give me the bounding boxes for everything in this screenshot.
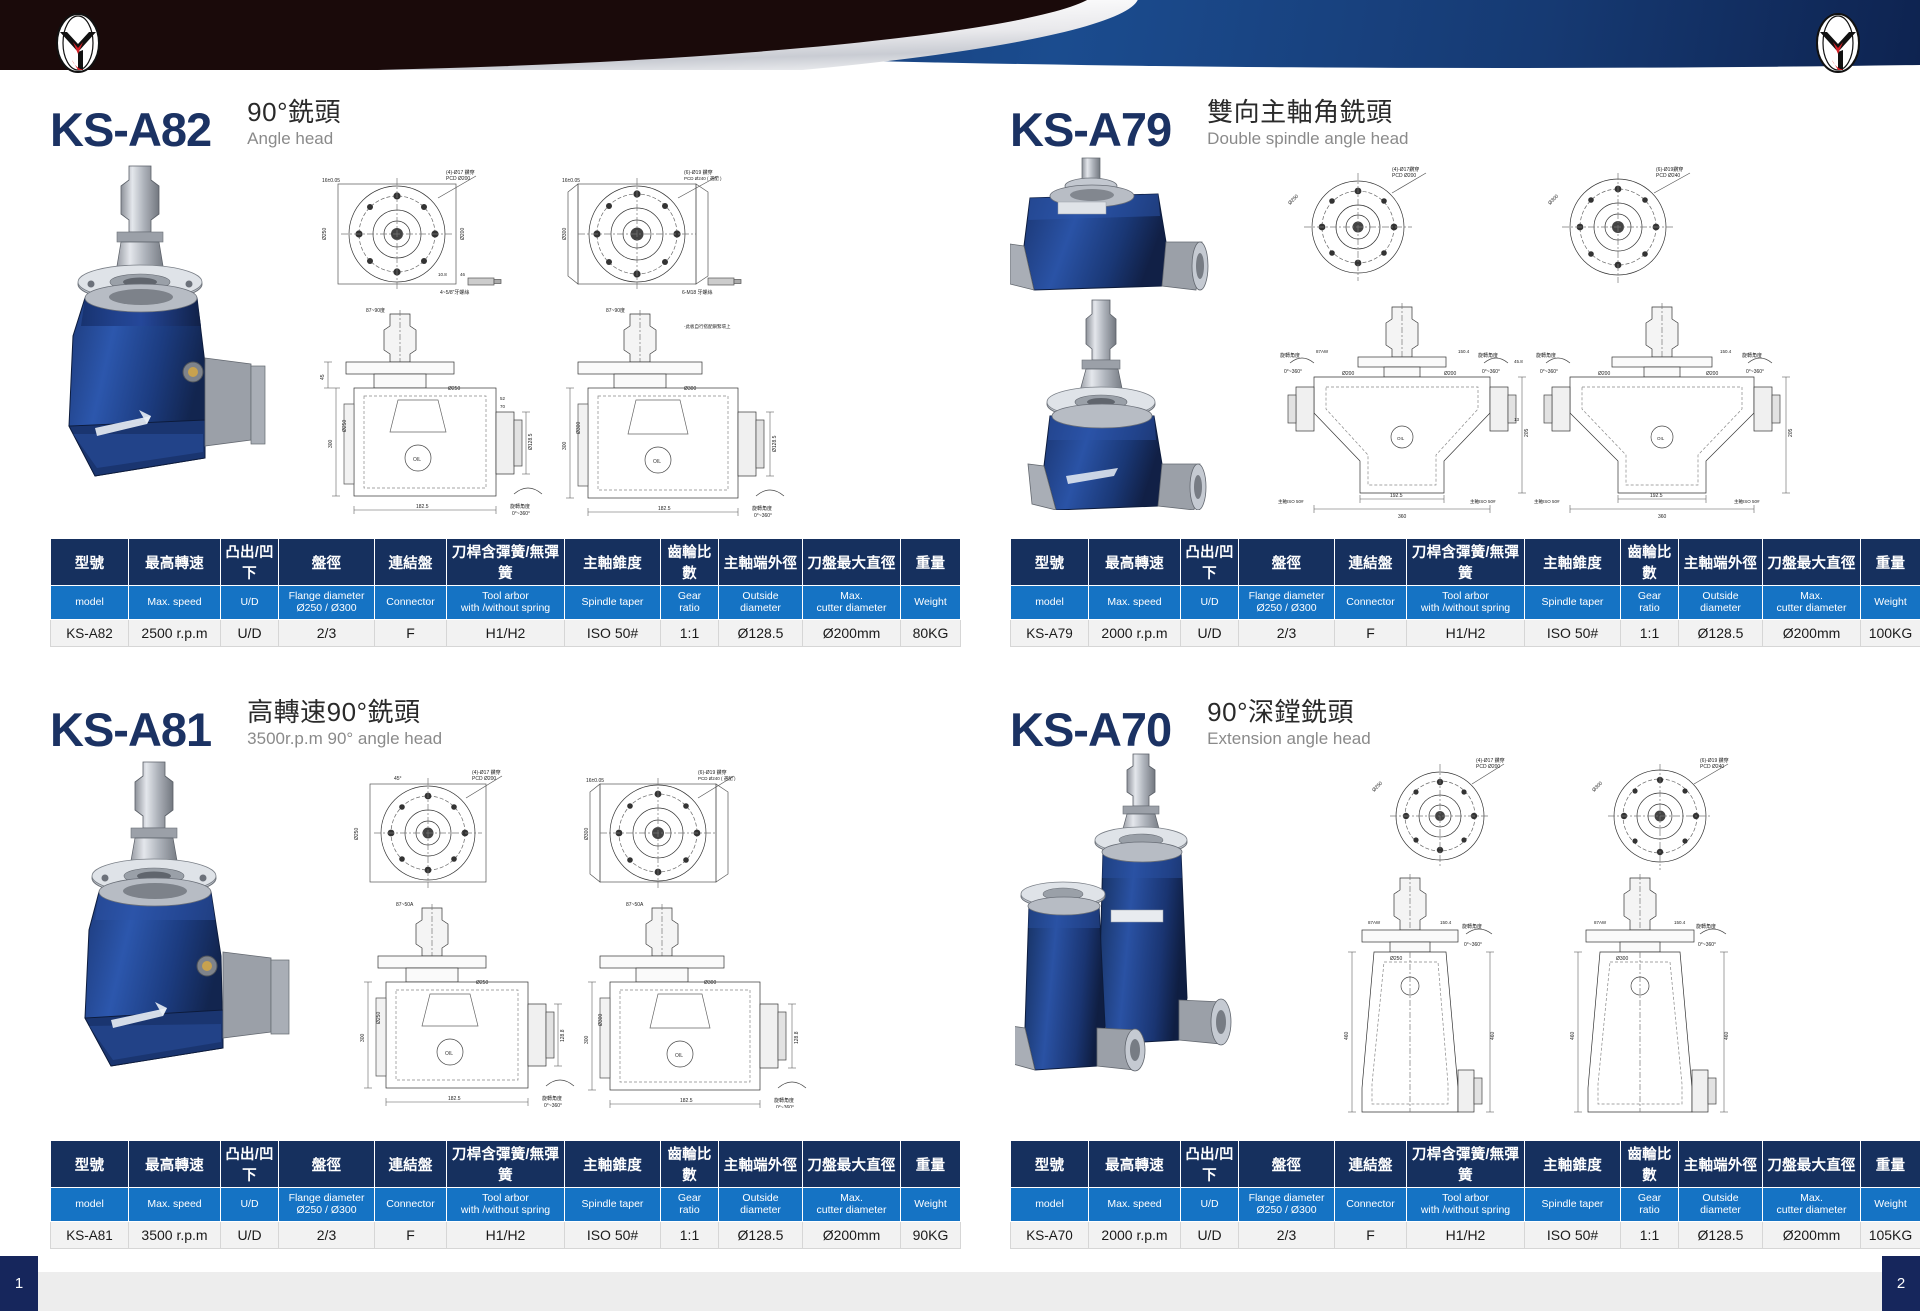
svg-text:360: 360 <box>1658 514 1667 520</box>
th-gear-zh: 齒輪比數 <box>1621 1141 1679 1188</box>
svg-text:旋轉角度: 旋轉角度 <box>1696 923 1716 930</box>
th-model-en: model <box>1011 586 1089 620</box>
svg-text:Ø250: Ø250 <box>322 228 328 240</box>
table-row: KS-A79 2000 r.p.m U/D 2/3 F H1/H2 ISO 50… <box>1011 620 1920 647</box>
th-weight-zh: 重量 <box>901 539 961 586</box>
th-cutter-en: Max.cutter diameter <box>803 586 901 620</box>
svg-text:205: 205 <box>1788 428 1794 437</box>
svg-text:300: 300 <box>584 1035 590 1044</box>
svg-text:Ø250: Ø250 <box>476 980 488 986</box>
svg-text:旋轉角度: 旋轉角度 <box>542 1095 562 1102</box>
svg-text:(6)-Ø19鑽穿: (6)-Ø19鑽穿 <box>1656 166 1683 173</box>
cell-model: KS-A81 <box>51 1222 129 1249</box>
th-ud-zh: 凸出/凹下 <box>221 539 279 586</box>
cell-ud: U/D <box>1181 1222 1239 1249</box>
svg-text:0°~360°: 0°~360° <box>754 513 772 518</box>
svg-text:300: 300 <box>562 441 568 450</box>
table-header-zh: 型號 最高轉速 凸出/凹下 盤徑 連結盤 刀桿含彈簧/無彈簧 主軸錐度 齒輪比數… <box>1011 1141 1920 1188</box>
cell-gear: 1:1 <box>1621 1222 1679 1249</box>
svg-text:150.4: 150.4 <box>1674 920 1686 925</box>
svg-text:Ø128.5: Ø128.5 <box>528 433 534 450</box>
th-conn-en: Connector <box>1335 1188 1407 1222</box>
th-model-en: model <box>51 1188 129 1222</box>
th-outside-en: Outsidediameter <box>719 586 803 620</box>
company-logo-left <box>52 12 104 74</box>
cell-conn: F <box>375 1222 447 1249</box>
product-title-a79: KS-A79 雙向主軸角銑頭 Double spindle angle head <box>1010 98 1409 153</box>
svg-text:46: 46 <box>460 272 466 277</box>
th-flange-zh: 盤徑 <box>1239 539 1335 586</box>
svg-text:PCD Ø200: PCD Ø200 <box>472 776 496 782</box>
svg-text:Ø250: Ø250 <box>448 386 460 392</box>
th-arbor-en: Tool arborwith /without spring <box>1407 1188 1525 1222</box>
th-outside-en: Outsidediameter <box>1679 586 1763 620</box>
product-photo-a81 <box>75 756 325 1086</box>
spec-table-a82: 型號 最高轉速 凸出/凹下 盤徑 連結盤 刀桿含彈簧/無彈簧 主軸錐度 齒輪比數… <box>50 538 961 647</box>
th-conn-zh: 連結盤 <box>1335 539 1407 586</box>
svg-text:0°~360°: 0°~360° <box>512 511 530 517</box>
svg-text:Ø250: Ø250 <box>354 828 360 840</box>
page-number-right: 2 <box>1897 1275 1905 1292</box>
svg-text:45.8: 45.8 <box>1514 359 1523 364</box>
svg-text:旋轉角度: 旋轉角度 <box>1280 352 1300 359</box>
th-weight-en: Weight <box>901 1188 961 1222</box>
svg-text:Ø300: Ø300 <box>562 228 568 240</box>
cell-outside: Ø128.5 <box>719 620 803 647</box>
svg-text:(6)-Ø19 鑽穿: (6)-Ø19 鑽穿 <box>698 769 727 776</box>
svg-text:PCD Ø240: PCD Ø240 <box>1656 173 1680 179</box>
svg-text:87AW: 87AW <box>1594 920 1607 925</box>
svg-text:460: 460 <box>1490 1031 1496 1040</box>
svg-text:192.5: 192.5 <box>1650 493 1663 499</box>
product-photo-a82 <box>55 158 305 498</box>
th-ud-zh: 凸出/凹下 <box>1181 539 1239 586</box>
cell-outside: Ø128.5 <box>1679 620 1763 647</box>
model-code: KS-A70 <box>1010 707 1171 752</box>
table-row: KS-A81 3500 r.p.m U/D 2/3 F H1/H2 ISO 50… <box>51 1222 961 1249</box>
th-flange-en: Flange diameterØ250 / Ø300 <box>1239 586 1335 620</box>
svg-text:Ø300: Ø300 <box>684 386 696 392</box>
th-ud-en: U/D <box>1181 1188 1239 1222</box>
th-gear-en: Gearratio <box>661 1188 719 1222</box>
table-header-en: model Max. speed U/D Flange diameterØ250… <box>1011 1188 1920 1222</box>
title-zh: 90°銑頭 <box>247 98 341 127</box>
th-conn-zh: 連結盤 <box>375 1141 447 1188</box>
svg-text:PCD Ø200: PCD Ø200 <box>446 176 470 182</box>
page-header <box>0 0 1920 78</box>
svg-text:Ø128.5: Ø128.5 <box>772 435 778 452</box>
th-arbor-zh: 刀桿含彈簧/無彈簧 <box>447 539 565 586</box>
technical-drawings-a82: (4)-Ø17 鑽穿 PCD Ø200 16±0.05 Ø250 Ø200 4~… <box>300 158 930 518</box>
cell-ud: U/D <box>1181 620 1239 647</box>
th-weight-en: Weight <box>1861 1188 1920 1222</box>
th-model-en: model <box>1011 1188 1089 1222</box>
svg-text:PCD Ø200: PCD Ø200 <box>1392 173 1416 179</box>
model-code: KS-A79 <box>1010 107 1171 152</box>
svg-text:Ø250: Ø250 <box>1287 193 1300 206</box>
svg-text:52: 52 <box>500 396 506 401</box>
cell-weight: 90KG <box>901 1222 961 1249</box>
table-row: KS-A82 2500 r.p.m U/D 2/3 F H1/H2 ISO 50… <box>51 620 961 647</box>
th-cutter-zh: 刀盤最大直徑 <box>1763 1141 1861 1188</box>
cell-weight: 80KG <box>901 620 961 647</box>
cell-flange: 2/3 <box>279 620 375 647</box>
th-conn-zh: 連結盤 <box>375 539 447 586</box>
spec-table-a79: 型號 最高轉速 凸出/凹下 盤徑 連結盤 刀桿含彈簧/無彈簧 主軸錐度 齒輪比數… <box>1010 538 1920 647</box>
cell-gear: 1:1 <box>661 620 719 647</box>
th-cutter-en: Max.cutter diameter <box>1763 1188 1861 1222</box>
th-weight-zh: 重量 <box>1861 539 1920 586</box>
th-model-zh: 型號 <box>51 1141 129 1188</box>
th-taper-zh: 主軸錐度 <box>1525 539 1621 586</box>
svg-text:PCD Ø240 ( 選配 ): PCD Ø240 ( 選配 ) <box>698 775 736 782</box>
svg-text:182.5: 182.5 <box>448 1096 461 1102</box>
th-gear-en: Gearratio <box>661 586 719 620</box>
svg-text:(6)-Ø19 鑽穿: (6)-Ø19 鑽穿 <box>1700 757 1729 764</box>
title-en: Angle head <box>247 129 341 149</box>
svg-text:45: 45 <box>320 374 326 380</box>
table-header-zh: 型號 最高轉速 凸出/凹下 盤徑 連結盤 刀桿含彈簧/無彈簧 主軸錐度 齒輪比數… <box>1011 539 1920 586</box>
model-code: KS-A82 <box>50 107 211 152</box>
th-weight-en: Weight <box>1861 586 1920 620</box>
th-outside-zh: 主軸端外徑 <box>1679 539 1763 586</box>
svg-text:OIL: OIL <box>445 1051 453 1057</box>
technical-drawings-a70: (4)-Ø17 鑽穿 PCD Ø200 Ø250 <box>1260 748 1910 1118</box>
th-conn-zh: 連結盤 <box>1335 1141 1407 1188</box>
cell-weight: 100KG <box>1861 620 1920 647</box>
svg-text:192.5: 192.5 <box>1390 493 1403 499</box>
th-taper-en: Spindle taper <box>1525 1188 1621 1222</box>
th-taper-en: Spindle taper <box>565 1188 661 1222</box>
svg-text:Ø250: Ø250 <box>342 420 348 432</box>
table-header-en: model Max. speed U/D Flange diameterØ250… <box>51 586 961 620</box>
th-conn-en: Connector <box>1335 586 1407 620</box>
svg-text:旋轉角度: 旋轉角度 <box>1462 923 1482 930</box>
th-arbor-zh: 刀桿含彈簧/無彈簧 <box>447 1141 565 1188</box>
svg-text:0°~360°: 0°~360° <box>1540 369 1558 375</box>
svg-text:360: 360 <box>1398 514 1407 520</box>
th-model-zh: 型號 <box>51 539 129 586</box>
th-taper-zh: 主軸錐度 <box>565 1141 661 1188</box>
th-outside-zh: 主軸端外徑 <box>1679 1141 1763 1188</box>
th-gear-zh: 齒輪比數 <box>1621 539 1679 586</box>
svg-text:Ø200: Ø200 <box>1444 371 1456 377</box>
svg-text:Ø250: Ø250 <box>1390 956 1402 962</box>
cell-flange: 2/3 <box>279 1222 375 1249</box>
product-block-a82: KS-A82 90°銑頭 Angle head <box>0 78 960 678</box>
svg-text:旋轉角度: 旋轉角度 <box>1742 352 1762 359</box>
svg-text:87~90度: 87~90度 <box>366 307 385 314</box>
technical-drawings-a81: (4)-Ø17 鑽穿 PCD Ø200 45° Ø250 <box>330 758 930 1108</box>
cell-conn: F <box>1335 620 1407 647</box>
table-header-en: model Max. speed U/D Flange diameterØ250… <box>1011 586 1920 620</box>
cell-gear: 1:1 <box>1621 620 1679 647</box>
th-taper-zh: 主軸錐度 <box>1525 1141 1621 1188</box>
svg-text:主軸ISO 50#: 主軸ISO 50# <box>1278 498 1304 505</box>
svg-text:460: 460 <box>1344 1031 1350 1040</box>
th-model-zh: 型號 <box>1011 1141 1089 1188</box>
cell-cutter: Ø200mm <box>1763 620 1861 647</box>
svg-text:182.5: 182.5 <box>680 1098 693 1104</box>
company-logo-right <box>1812 12 1864 74</box>
svg-text:主軸ISO 50#: 主軸ISO 50# <box>1470 498 1496 505</box>
th-ud-en: U/D <box>221 586 279 620</box>
cell-gear: 1:1 <box>661 1222 719 1249</box>
th-speed-zh: 最高轉速 <box>1089 1141 1181 1188</box>
th-gear-en: Gearratio <box>1621 586 1679 620</box>
cell-cutter: Ø200mm <box>803 1222 901 1249</box>
th-arbor-zh: 刀桿含彈簧/無彈簧 <box>1407 539 1525 586</box>
svg-text:0°~360°: 0°~360° <box>1698 942 1716 948</box>
svg-text:45°: 45° <box>394 776 402 782</box>
svg-text:旋轉角度: 旋轉角度 <box>1536 352 1556 359</box>
th-outside-en: Outsidediameter <box>1679 1188 1763 1222</box>
th-outside-zh: 主軸端外徑 <box>719 539 803 586</box>
svg-text:-此板自行搭配鎖緊環上: -此板自行搭配鎖緊環上 <box>684 323 731 330</box>
product-block-a79: KS-A79 雙向主軸角銑頭 Double spindle angle head <box>960 78 1920 678</box>
th-cutter-zh: 刀盤最大直徑 <box>1763 539 1861 586</box>
th-speed-en: Max. speed <box>1089 586 1181 620</box>
cell-taper: ISO 50# <box>1525 1222 1621 1249</box>
th-gear-zh: 齒輪比數 <box>661 1141 719 1188</box>
cell-flange: 2/3 <box>1239 620 1335 647</box>
svg-text:(4)-Ø17 鑽穿: (4)-Ø17 鑽穿 <box>1476 757 1505 764</box>
svg-text:150.4: 150.4 <box>1440 920 1452 925</box>
svg-text:87~50A: 87~50A <box>626 902 644 908</box>
svg-text:460: 460 <box>1724 1031 1730 1040</box>
th-arbor-en: Tool arborwith /without spring <box>1407 586 1525 620</box>
svg-text:460: 460 <box>1570 1031 1576 1040</box>
product-photo-a70 <box>1015 750 1265 1080</box>
th-arbor-en: Tool arborwith /without spring <box>447 1188 565 1222</box>
th-arbor-zh: 刀桿含彈簧/無彈簧 <box>1407 1141 1525 1188</box>
title-zh: 高轉速90°銑頭 <box>247 698 442 727</box>
svg-text:主軸ISO 50#: 主軸ISO 50# <box>1534 498 1560 505</box>
footer-bar <box>0 1272 1920 1311</box>
cell-speed: 3500 r.p.m <box>129 1222 221 1249</box>
cell-flange: 2/3 <box>1239 1222 1335 1249</box>
th-taper-en: Spindle taper <box>1525 586 1621 620</box>
th-outside-zh: 主軸端外徑 <box>719 1141 803 1188</box>
th-weight-zh: 重量 <box>901 1141 961 1188</box>
th-flange-en: Flange diameterØ250 / Ø300 <box>279 1188 375 1222</box>
svg-text:旋轉角度: 旋轉角度 <box>510 503 530 510</box>
cell-conn: F <box>1335 1222 1407 1249</box>
svg-text:PCD Ø240 ( 選配 ): PCD Ø240 ( 選配 ) <box>684 175 722 182</box>
cell-weight: 105KG <box>1861 1222 1920 1249</box>
svg-text:150.4: 150.4 <box>1458 349 1470 354</box>
page-number-right-block: 2 <box>1882 1256 1920 1311</box>
header-base <box>0 70 1920 78</box>
svg-text:16±0.05: 16±0.05 <box>586 778 604 784</box>
svg-text:Ø250: Ø250 <box>376 1012 382 1024</box>
product-block-a81: KS-A81 高轉速90°銑頭 3500r.p.m 90° angle head <box>0 678 960 1256</box>
product-photo-a79 <box>1010 150 1245 510</box>
th-taper-en: Spindle taper <box>565 586 661 620</box>
svg-text:Ø300: Ø300 <box>598 1014 604 1026</box>
svg-text:OIL: OIL <box>675 1053 683 1059</box>
catalog-page: KS-A82 90°銑頭 Angle head <box>0 0 1920 1311</box>
svg-text:旋轉角度: 旋轉角度 <box>752 505 772 512</box>
th-ud-zh: 凸出/凹下 <box>221 1141 279 1188</box>
cell-cutter: Ø200mm <box>1763 1222 1861 1249</box>
svg-text:4~5/8"牙螺絲: 4~5/8"牙螺絲 <box>440 289 469 296</box>
spec-table-a70: 型號 最高轉速 凸出/凹下 盤徑 連結盤 刀桿含彈簧/無彈簧 主軸錐度 齒輪比數… <box>1010 1140 1920 1249</box>
cell-arbor: H1/H2 <box>1407 1222 1525 1249</box>
svg-text:Ø300: Ø300 <box>576 422 582 434</box>
svg-text:Ø300: Ø300 <box>1591 780 1604 793</box>
svg-text:87AW: 87AW <box>1368 920 1381 925</box>
cell-arbor: H1/H2 <box>1407 620 1525 647</box>
cell-model: KS-A70 <box>1011 1222 1089 1249</box>
th-speed-en: Max. speed <box>129 1188 221 1222</box>
svg-text:128.8: 128.8 <box>794 1031 800 1044</box>
svg-text:Ø300: Ø300 <box>584 828 590 840</box>
svg-text:Ø200: Ø200 <box>1598 371 1610 377</box>
technical-drawings-a79: (4)-Ø17鑽穿 PCD Ø200 Ø250 <box>1250 153 1900 523</box>
svg-text:87~50A: 87~50A <box>396 902 414 908</box>
cell-ud: U/D <box>221 1222 279 1249</box>
th-flange-en: Flange diameterØ250 / Ø300 <box>1239 1188 1335 1222</box>
svg-text:旋轉角度: 旋轉角度 <box>1478 352 1498 359</box>
svg-text:(4)-Ø17 鑽穿: (4)-Ø17 鑽穿 <box>446 169 475 176</box>
svg-text:OIL: OIL <box>1657 436 1665 441</box>
cell-arbor: H1/H2 <box>447 620 565 647</box>
product-block-a70: KS-A70 90°深鏜銑頭 Extension angle head <box>960 678 1920 1256</box>
svg-text:128.8: 128.8 <box>560 1029 566 1042</box>
th-conn-en: Connector <box>375 1188 447 1222</box>
svg-text:87~90度: 87~90度 <box>606 307 625 314</box>
th-ud-en: U/D <box>221 1188 279 1222</box>
table-header-en: model Max. speed U/D Flange diameterØ250… <box>51 1188 961 1222</box>
th-speed-zh: 最高轉速 <box>129 1141 221 1188</box>
th-flange-zh: 盤徑 <box>279 539 375 586</box>
svg-text:0°~360°: 0°~360° <box>776 1105 794 1108</box>
svg-text:(4)-Ø17 鑽穿: (4)-Ø17 鑽穿 <box>472 769 501 776</box>
th-cutter-en: Max.cutter diameter <box>1763 586 1861 620</box>
svg-text:205: 205 <box>1524 428 1530 437</box>
cell-conn: F <box>375 620 447 647</box>
svg-text:0°~360°: 0°~360° <box>1482 369 1500 375</box>
svg-text:0°~360°: 0°~360° <box>544 1103 562 1108</box>
svg-text:16±0.05: 16±0.05 <box>562 178 580 184</box>
table-row: KS-A70 2000 r.p.m U/D 2/3 F H1/H2 ISO 50… <box>1011 1222 1920 1249</box>
svg-text:Ø300: Ø300 <box>1616 956 1628 962</box>
title-en: Extension angle head <box>1207 729 1371 749</box>
cell-taper: ISO 50# <box>565 1222 661 1249</box>
th-weight-en: Weight <box>901 586 961 620</box>
page-number-left: 1 <box>15 1275 23 1292</box>
th-cutter-en: Max.cutter diameter <box>803 1188 901 1222</box>
th-model-zh: 型號 <box>1011 539 1089 586</box>
title-en: 3500r.p.m 90° angle head <box>247 729 442 749</box>
svg-text:Ø300: Ø300 <box>1547 193 1560 206</box>
th-flange-en: Flange diameterØ250 / Ø300 <box>279 586 375 620</box>
cell-speed: 2000 r.p.m <box>1089 1222 1181 1249</box>
th-speed-zh: 最高轉速 <box>1089 539 1181 586</box>
cell-outside: Ø128.5 <box>1679 1222 1763 1249</box>
th-speed-zh: 最高轉速 <box>129 539 221 586</box>
svg-text:OIL: OIL <box>1397 436 1405 441</box>
cell-outside: Ø128.5 <box>719 1222 803 1249</box>
th-arbor-en: Tool arborwith /without spring <box>447 586 565 620</box>
product-title-a82: KS-A82 90°銑頭 Angle head <box>50 98 341 153</box>
svg-text:6-M18 牙螺絲: 6-M18 牙螺絲 <box>682 289 713 296</box>
product-title-a81: KS-A81 高轉速90°銑頭 3500r.p.m 90° angle head <box>50 698 442 753</box>
svg-text:Ø200: Ø200 <box>1342 371 1354 377</box>
svg-text:PCD Ø200: PCD Ø200 <box>1476 764 1500 770</box>
svg-text:Ø200: Ø200 <box>460 228 466 240</box>
svg-text:0°~360°: 0°~360° <box>1464 942 1482 948</box>
svg-text:0°~360°: 0°~360° <box>1746 369 1764 375</box>
svg-text:Ø200: Ø200 <box>1706 371 1718 377</box>
svg-text:182.5: 182.5 <box>658 506 671 512</box>
svg-text:300: 300 <box>328 439 334 448</box>
th-flange-zh: 盤徑 <box>279 1141 375 1188</box>
title-zh: 雙向主軸角銑頭 <box>1207 98 1408 127</box>
table-header-zh: 型號 最高轉速 凸出/凹下 盤徑 連結盤 刀桿含彈簧/無彈簧 主軸錐度 齒輪比數… <box>51 1141 961 1188</box>
page-footer: 1 2 <box>0 1256 1920 1311</box>
th-taper-zh: 主軸錐度 <box>565 539 661 586</box>
title-en: Double spindle angle head <box>1207 129 1408 149</box>
cell-speed: 2500 r.p.m <box>129 620 221 647</box>
model-code: KS-A81 <box>50 707 211 752</box>
svg-text:Ø250: Ø250 <box>1371 780 1384 793</box>
th-gear-en: Gearratio <box>1621 1188 1679 1222</box>
th-ud-en: U/D <box>1181 586 1239 620</box>
cell-taper: ISO 50# <box>1525 620 1621 647</box>
th-weight-zh: 重量 <box>1861 1141 1920 1188</box>
cell-arbor: H1/H2 <box>447 1222 565 1249</box>
th-cutter-zh: 刀盤最大直徑 <box>803 1141 901 1188</box>
th-speed-en: Max. speed <box>1089 1188 1181 1222</box>
svg-text:(4)-Ø17鑽穿: (4)-Ø17鑽穿 <box>1392 166 1419 173</box>
svg-text:70: 70 <box>500 404 506 409</box>
cell-cutter: Ø200mm <box>803 620 901 647</box>
svg-text:13: 13 <box>1514 417 1520 422</box>
cell-taper: ISO 50# <box>565 620 661 647</box>
svg-text:87AW: 87AW <box>1316 349 1329 354</box>
table-header-zh: 型號 最高轉速 凸出/凹下 盤徑 連結盤 刀桿含彈簧/無彈簧 主軸錐度 齒輪比數… <box>51 539 961 586</box>
svg-text:PCD Ø240: PCD Ø240 <box>1700 764 1724 770</box>
svg-text:0°~360°: 0°~360° <box>1284 369 1302 375</box>
svg-text:150.4: 150.4 <box>1720 349 1732 354</box>
cell-model: KS-A79 <box>1011 620 1089 647</box>
svg-text:182.5: 182.5 <box>416 504 429 510</box>
th-conn-en: Connector <box>375 586 447 620</box>
th-flange-zh: 盤徑 <box>1239 1141 1335 1188</box>
cell-speed: 2000 r.p.m <box>1089 620 1181 647</box>
svg-text:Ø300: Ø300 <box>704 980 716 986</box>
svg-text:10.8: 10.8 <box>438 272 447 277</box>
th-outside-en: Outsidediameter <box>719 1188 803 1222</box>
th-speed-en: Max. speed <box>129 586 221 620</box>
svg-text:(6)-Ø19 鑽穿: (6)-Ø19 鑽穿 <box>684 169 713 176</box>
svg-text:OIL: OIL <box>413 457 421 463</box>
svg-text:OIL: OIL <box>653 459 661 465</box>
product-title-a70: KS-A70 90°深鏜銑頭 Extension angle head <box>1010 698 1371 753</box>
svg-text:旋轉角度: 旋轉角度 <box>774 1097 794 1104</box>
svg-text:16±0.05: 16±0.05 <box>322 178 340 184</box>
th-cutter-zh: 刀盤最大直徑 <box>803 539 901 586</box>
th-ud-zh: 凸出/凹下 <box>1181 1141 1239 1188</box>
th-gear-zh: 齒輪比數 <box>661 539 719 586</box>
title-zh: 90°深鏜銑頭 <box>1207 698 1371 727</box>
svg-text:主軸ISO 50#: 主軸ISO 50# <box>1734 498 1760 505</box>
cell-model: KS-A82 <box>51 620 129 647</box>
page-number-left-block: 1 <box>0 1256 38 1311</box>
svg-text:300: 300 <box>360 1033 366 1042</box>
